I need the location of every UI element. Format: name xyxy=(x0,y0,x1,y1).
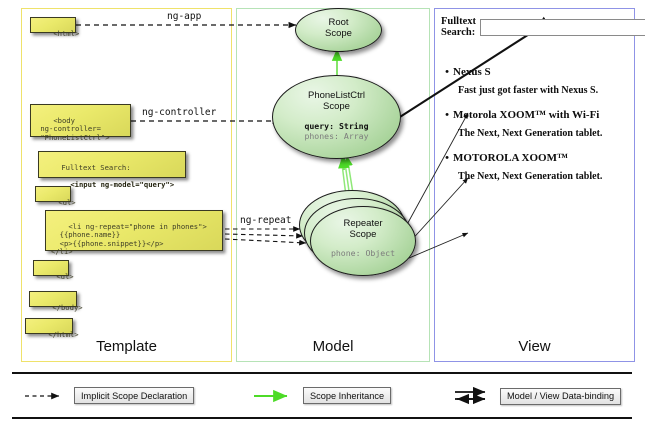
legend-model-view-data-binding: Model / View Data-binding xyxy=(453,387,621,405)
label-ng-repeat: ng-repeat xyxy=(240,215,291,226)
scope-title-line2: Scope xyxy=(323,101,350,112)
code-text: <ul> xyxy=(56,272,73,281)
code-text-line2: <input ng-model="query"> xyxy=(70,180,174,189)
scope-prop-query: query: String xyxy=(304,121,368,131)
divider-bottom xyxy=(12,417,632,419)
code-box-html-close[interactable]: </html> xyxy=(25,318,73,334)
legend-label: Scope Inheritance xyxy=(303,387,391,404)
code-box-ul-close[interactable]: <ul> xyxy=(33,260,69,276)
legend-label: Implicit Scope Declaration xyxy=(74,387,194,404)
phone-name: MOTOROLA XOOM™ xyxy=(453,152,568,164)
panel-template-label: Template xyxy=(22,338,231,355)
scope-title-line1: PhoneListCtrl xyxy=(308,90,365,101)
scope-root[interactable]: Root Scope xyxy=(295,8,382,52)
phone-snippet: The Next, Next Generation tablet. xyxy=(458,128,629,139)
code-box-html-open[interactable]: <html> xyxy=(30,17,76,33)
code-text: <ul> xyxy=(58,198,75,207)
code-text: </html> xyxy=(48,330,78,339)
scope-prop-phone: phone: Object xyxy=(331,248,395,258)
code-box-ul-open[interactable]: <ul> xyxy=(35,186,71,202)
code-text: <html> xyxy=(53,29,79,38)
view-search-row: Fulltext Search: xyxy=(441,16,629,38)
panel-view-label: View xyxy=(435,338,634,355)
code-box-search-markup[interactable]: Fulltext Search: <input ng-model="query"… xyxy=(38,151,186,178)
phone-name-row: • Nexus S xyxy=(441,66,629,78)
fulltext-search-input[interactable] xyxy=(480,19,645,36)
panel-model-label: Model xyxy=(237,338,429,355)
code-text-line1: Fulltext Search: xyxy=(61,163,130,172)
scope-phonelistctrl[interactable]: PhoneListCtrl Scope query: String phones… xyxy=(272,75,401,159)
code-box-body-close[interactable]: </body> xyxy=(29,291,77,307)
code-box-li-repeat[interactable]: <li ng-repeat="phone in phones"> {{phone… xyxy=(45,210,223,251)
phone-snippet: The Next, Next Generation tablet. xyxy=(458,171,629,182)
divider-top xyxy=(12,372,632,374)
double-arrow-icon xyxy=(453,387,495,405)
scope-title-line2: Scope xyxy=(325,28,352,39)
dashed-arrow-icon xyxy=(23,389,69,403)
scope-title-line1: Repeater xyxy=(343,218,382,229)
scope-title-line2: Scope xyxy=(350,229,377,240)
phone-name: Nexus S xyxy=(453,66,491,78)
phone-list-item: • Motorola XOOM™ with Wi-Fi The Next, Ne… xyxy=(441,109,629,139)
bullet-icon: • xyxy=(441,109,453,121)
scope-prop-phones: phones: Array xyxy=(304,131,368,141)
code-box-body-open[interactable]: <body ng-controller= "PhoneListCtrl"> xyxy=(30,104,131,137)
code-text: </body> xyxy=(52,303,82,312)
code-text: <body ng-controller= "PhoneListCtrl"> xyxy=(36,116,110,142)
phone-name: Motorola XOOM™ with Wi-Fi xyxy=(453,109,599,121)
panel-model: Model xyxy=(236,8,430,362)
scope-title-line1: Root xyxy=(328,17,348,28)
phone-name-row: • MOTOROLA XOOM™ xyxy=(441,152,629,164)
view-search-label: Fulltext Search: xyxy=(441,16,476,38)
label-ng-app: ng-app xyxy=(167,11,201,22)
legend-implicit-scope-declaration: Implicit Scope Declaration xyxy=(23,387,194,404)
bullet-icon: • xyxy=(441,66,453,78)
phone-list-item: • MOTOROLA XOOM™ The Next, Next Generati… xyxy=(441,152,629,182)
legend-scope-inheritance: Scope Inheritance xyxy=(252,387,391,404)
phone-snippet: Fast just got faster with Nexus S. xyxy=(458,85,629,96)
scope-repeater[interactable]: Repeater Scope phone: Object xyxy=(310,206,416,276)
phone-list-item: • Nexus S Fast just got faster with Nexu… xyxy=(441,66,629,96)
green-arrow-icon xyxy=(252,389,298,403)
diagram-root: Template Model View xyxy=(0,0,645,425)
view-content: Fulltext Search: • Nexus S Fast just got… xyxy=(441,16,629,276)
phone-name-row: • Motorola XOOM™ with Wi-Fi xyxy=(441,109,629,121)
bullet-icon: • xyxy=(441,152,453,164)
label-ng-controller: ng-controller xyxy=(142,107,216,118)
legend-label: Model / View Data-binding xyxy=(500,388,621,405)
